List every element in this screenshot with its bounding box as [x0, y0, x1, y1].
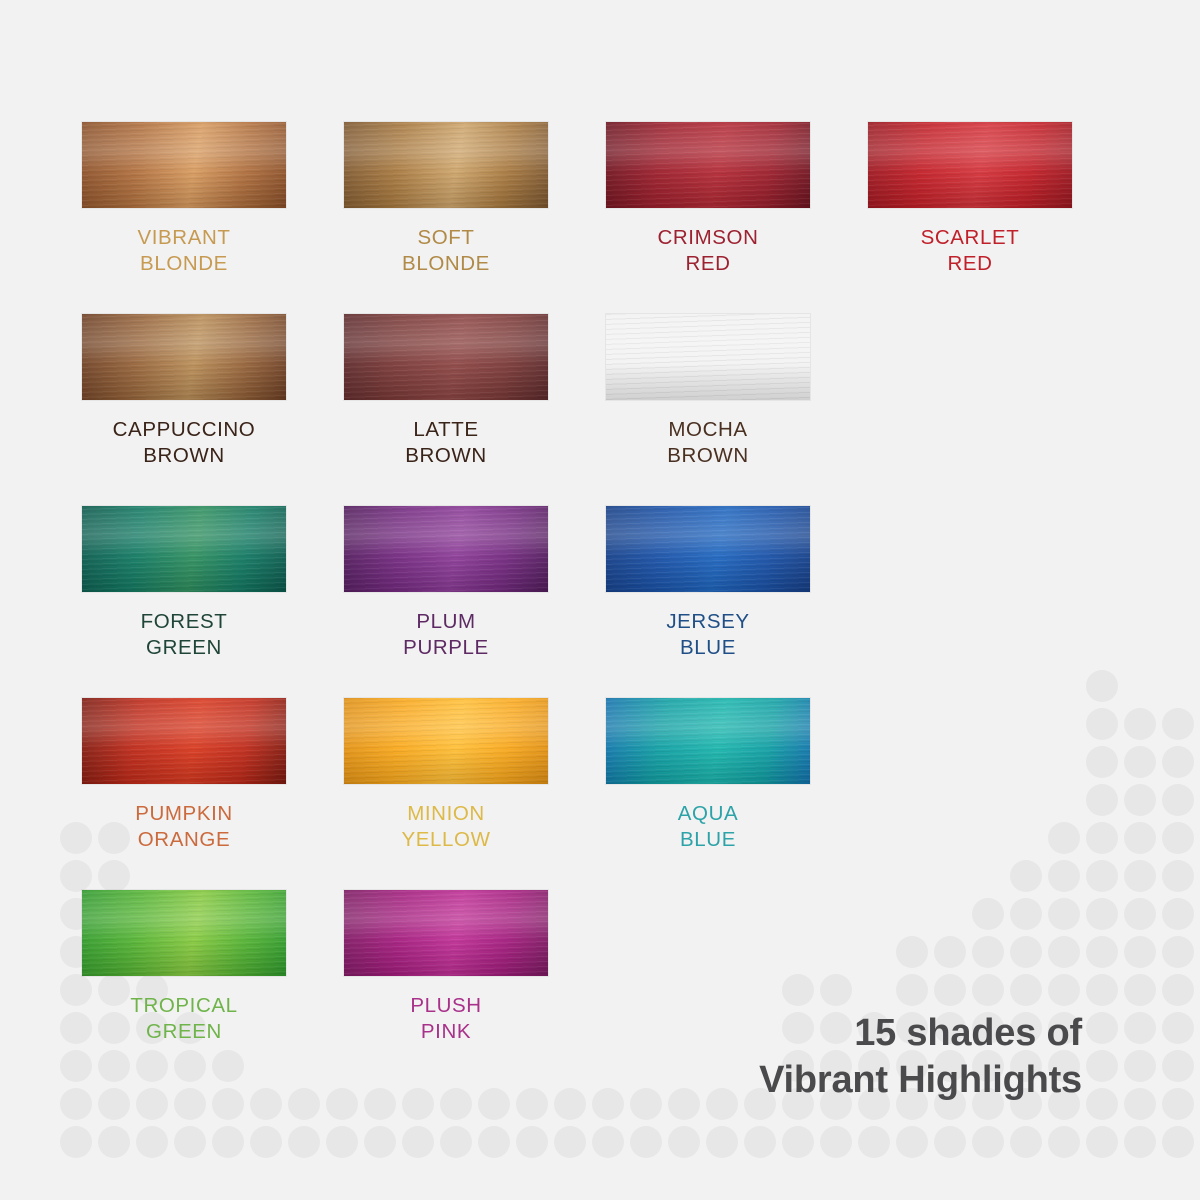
chip-sheen: [82, 314, 286, 400]
shade-name-label: AQUA BLUE: [606, 801, 810, 852]
shade-color-chip[interactable]: [344, 698, 548, 784]
chip-sheen: [82, 698, 286, 784]
shade-name-label: FOREST GREEN: [82, 609, 286, 660]
shade-swatch[interactable]: VIBRANT BLONDE: [82, 122, 286, 276]
poster-canvas: VIBRANT BLONDESOFT BLONDECRIMSON REDSCAR…: [0, 0, 1200, 1200]
chip-sheen: [344, 122, 548, 208]
shade-color-chip[interactable]: [606, 314, 810, 400]
shade-name-label: CAPPUCCINO BROWN: [82, 417, 286, 468]
shade-color-chip[interactable]: [344, 314, 548, 400]
shade-name-label: PLUM PURPLE: [344, 609, 548, 660]
shade-name-label: PUMPKIN ORANGE: [82, 801, 286, 852]
shade-color-chip[interactable]: [82, 506, 286, 592]
chip-sheen: [82, 506, 286, 592]
chip-sheen: [344, 506, 548, 592]
chip-sheen: [606, 314, 810, 400]
shade-name-label: SCARLET RED: [868, 225, 1072, 276]
shade-color-chip[interactable]: [82, 314, 286, 400]
shade-swatch[interactable]: AQUA BLUE: [606, 698, 810, 852]
shade-swatch[interactable]: PUMPKIN ORANGE: [82, 698, 286, 852]
shade-color-chip[interactable]: [606, 506, 810, 592]
shade-swatch[interactable]: TROPICAL GREEN: [82, 890, 286, 1044]
shade-name-label: MINION YELLOW: [344, 801, 548, 852]
shade-swatch[interactable]: SOFT BLONDE: [344, 122, 548, 276]
shade-color-chip[interactable]: [606, 698, 810, 784]
chip-sheen: [606, 698, 810, 784]
headline: 15 shades of Vibrant Highlights: [759, 963, 1082, 1104]
shade-color-chip[interactable]: [344, 890, 548, 976]
shade-swatch[interactable]: PLUSH PINK: [344, 890, 548, 1044]
chip-sheen: [868, 122, 1072, 208]
shade-color-chip[interactable]: [344, 506, 548, 592]
shade-swatch[interactable]: LATTE BROWN: [344, 314, 548, 468]
shade-name-label: TROPICAL GREEN: [82, 993, 286, 1044]
chip-sheen: [82, 890, 286, 976]
shade-swatch[interactable]: CRIMSON RED: [606, 122, 810, 276]
shade-name-label: JERSEY BLUE: [606, 609, 810, 660]
shade-color-chip[interactable]: [82, 122, 286, 208]
chip-sheen: [344, 698, 548, 784]
shade-name-label: VIBRANT BLONDE: [82, 225, 286, 276]
shade-name-label: SOFT BLONDE: [344, 225, 548, 276]
shade-swatch[interactable]: FOREST GREEN: [82, 506, 286, 660]
chip-sheen: [606, 122, 810, 208]
shade-swatch[interactable]: PLUM PURPLE: [344, 506, 548, 660]
chip-sheen: [344, 314, 548, 400]
shade-name-label: CRIMSON RED: [606, 225, 810, 276]
chip-sheen: [82, 122, 286, 208]
shade-name-label: LATTE BROWN: [344, 417, 548, 468]
shade-color-chip[interactable]: [868, 122, 1072, 208]
shade-color-chip[interactable]: [82, 698, 286, 784]
chip-sheen: [344, 890, 548, 976]
shade-swatch[interactable]: MOCHA BROWN: [606, 314, 810, 468]
shade-color-chip[interactable]: [606, 122, 810, 208]
shade-swatch[interactable]: MINION YELLOW: [344, 698, 548, 852]
shade-swatch[interactable]: JERSEY BLUE: [606, 506, 810, 660]
shade-swatch[interactable]: SCARLET RED: [868, 122, 1072, 276]
shade-name-label: PLUSH PINK: [344, 993, 548, 1044]
shade-name-label: MOCHA BROWN: [606, 417, 810, 468]
headline-text: 15 shades of Vibrant Highlights: [759, 1012, 1082, 1101]
shade-color-chip[interactable]: [344, 122, 548, 208]
shade-color-chip[interactable]: [82, 890, 286, 976]
chip-sheen: [606, 506, 810, 592]
shade-swatch[interactable]: CAPPUCCINO BROWN: [82, 314, 286, 468]
